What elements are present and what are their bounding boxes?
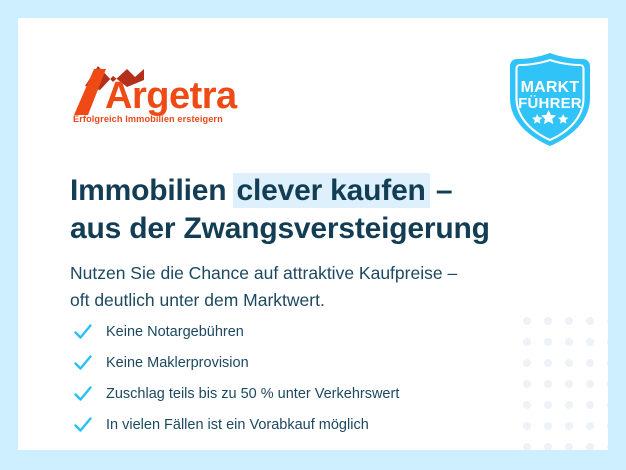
dot [607,317,608,325]
dot [586,359,594,367]
dot [586,422,594,430]
dot [565,380,573,388]
dot [544,338,552,346]
argetra-logo-graphic: Argetra [72,60,272,116]
check-icon [72,321,94,343]
dot [544,317,552,325]
dot [523,380,531,388]
badge-line1-text: MARKT [521,79,580,96]
dot [607,422,608,430]
dot [586,338,594,346]
subtitle-line1: Nutzen Sie die Chance auf attraktive Kau… [70,260,570,287]
dot [565,359,573,367]
dot [607,380,608,388]
list-item-label: Keine Notargebühren [106,322,244,342]
marktfuehrer-badge: MARKT FÜHRER [507,52,593,148]
shield-icon: MARKT FÜHRER [507,52,593,148]
list-item: Zuschlag teils bis zu 50 % unter Verkehr… [72,378,399,409]
benefits-list: Keine Notargebühren Keine Maklerprovisio… [72,316,399,440]
dot [565,422,573,430]
dot [586,317,594,325]
headline-line2: aus der Zwangsversteigerung [70,210,540,248]
dot [523,338,531,346]
list-item-label: Zuschlag teils bis zu 50 % unter Verkehr… [106,384,399,404]
dot [607,443,608,450]
logo-tagline: Erfolgreich Immobilien ersteigern [73,114,223,124]
dot [586,443,594,450]
dot [544,422,552,430]
dot [523,317,531,325]
dot [544,380,552,388]
dot [565,401,573,409]
list-item-label: Keine Maklerprovision [106,353,249,373]
dot [607,401,608,409]
dot [586,380,594,388]
dot-grid-decoration [523,317,608,450]
dot [523,422,531,430]
svg-text:Argetra: Argetra [105,75,238,116]
list-item: In vielen Fällen ist ein Vorabkauf mögli… [72,409,399,440]
dot [586,401,594,409]
dot [544,443,552,450]
badge-line2-text: FÜHRER [518,95,582,112]
headline-line1-post: – [428,174,453,207]
dot [544,359,552,367]
check-icon [72,383,94,405]
dot [607,359,608,367]
dot [565,443,573,450]
dot [523,359,531,367]
list-item-label: In vielen Fällen ist ein Vorabkauf mögli… [106,415,369,435]
check-icon [72,414,94,436]
check-icon [72,352,94,374]
headline-line1-pre: Immobilien [70,174,235,207]
headline-highlight: clever kaufen [233,173,430,208]
page-subtitle: Nutzen Sie die Chance auf attraktive Kau… [70,260,570,314]
dot [523,443,531,450]
dot [565,338,573,346]
page-title: Immobilien clever kaufen – aus der Zwang… [70,172,540,248]
dot [607,338,608,346]
list-item: Keine Maklerprovision [72,347,399,378]
list-item: Keine Notargebühren [72,316,399,347]
dot [565,317,573,325]
argetra-logo[interactable]: Argetra Erfolgreich Immobilien ersteiger… [72,60,272,130]
page-frame: Argetra Erfolgreich Immobilien ersteiger… [0,0,626,470]
dot [523,401,531,409]
promo-card: Argetra Erfolgreich Immobilien ersteiger… [18,18,608,450]
subtitle-line2: oft deutlich unter dem Marktwert. [70,287,570,314]
dot [544,401,552,409]
